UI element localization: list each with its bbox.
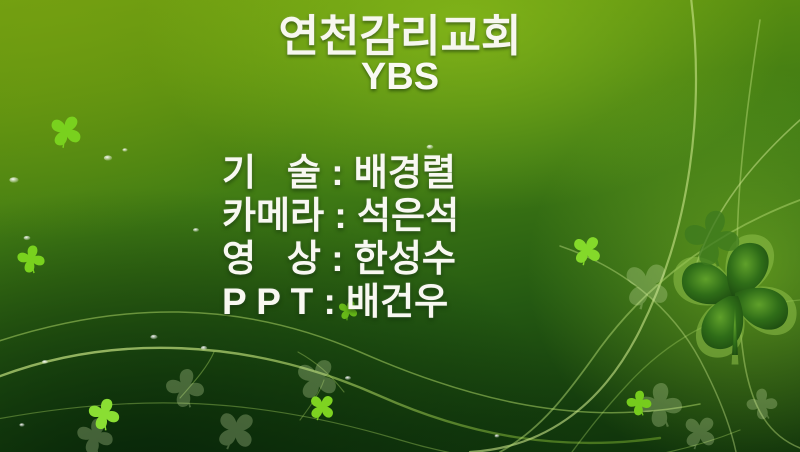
page-title: 연천감리교회 <box>0 14 800 60</box>
credit-line-camera: 카메라 : 석은석 <box>222 195 642 238</box>
credit-line-video: 영 상 : 한성수 <box>222 238 642 281</box>
credit-line-ppt: P P T : 배건우 <box>222 281 642 324</box>
page-subtitle: YBS <box>0 58 800 98</box>
presentation-slide: 연천감리교회 YBS 기 술 : 배경렬 카메라 : 석은석 영 상 : 한성수… <box>0 0 800 452</box>
four-leaf-clover-icon <box>673 234 796 364</box>
credit-line-technology: 기 술 : 배경렬 <box>222 152 642 195</box>
four-leaf-clover-icon <box>681 207 744 272</box>
credits-list: 기 술 : 배경렬 카메라 : 석은석 영 상 : 한성수 P P T : 배건… <box>222 152 642 324</box>
slide-title-block: 연천감리교회 YBS <box>0 14 800 98</box>
